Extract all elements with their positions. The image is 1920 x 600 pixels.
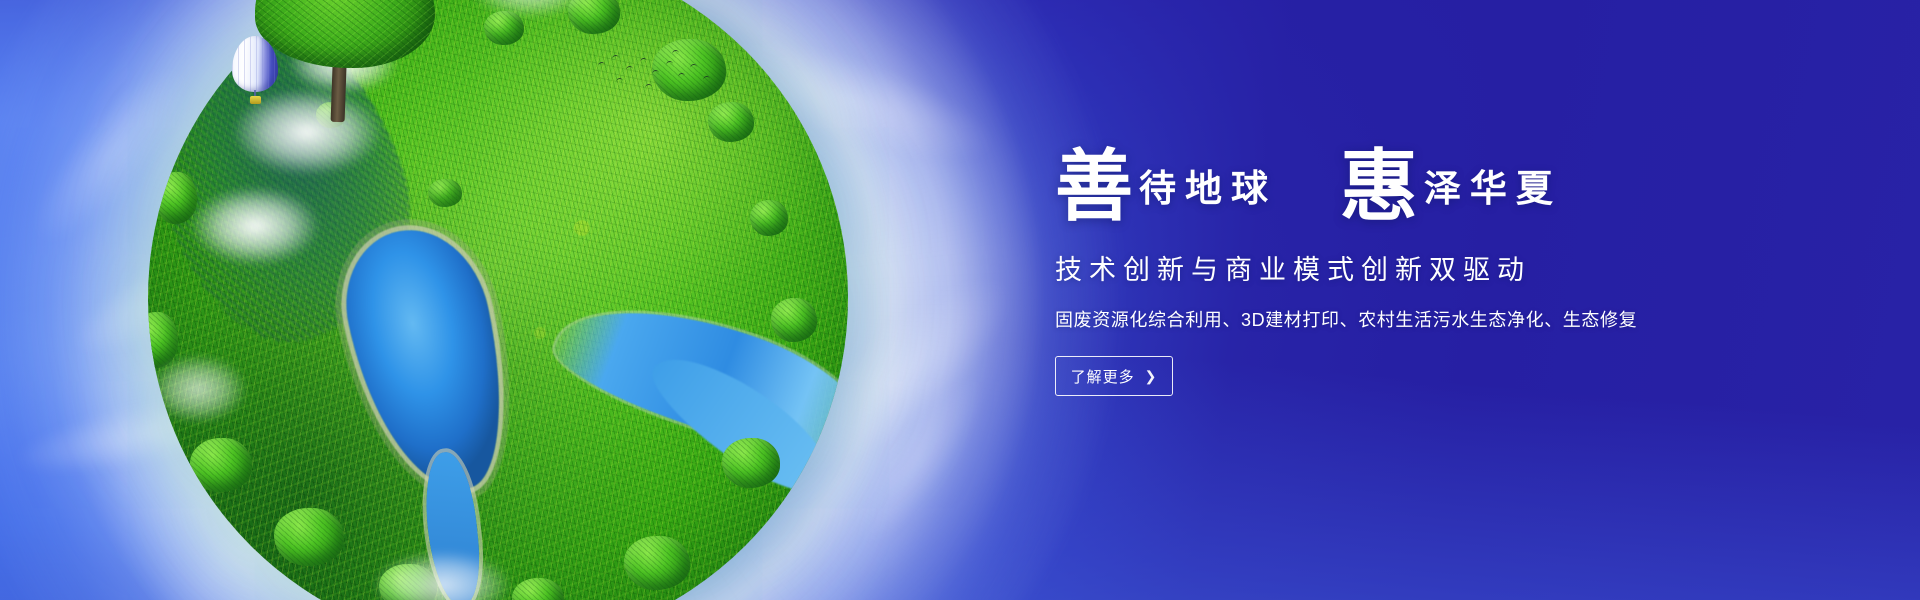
learn-more-button[interactable]: 了解更多 ❯ [1055,356,1173,396]
headline-text-zehuaxia: 泽华夏 [1424,169,1562,210]
headline-text-daidiqiu: 待地球 [1139,169,1277,210]
headline-phrase-1: 善待地球 [1055,140,1277,218]
hot-air-balloon-icon [232,36,278,108]
learn-more-label: 了解更多 [1071,366,1135,387]
headline-char-hui: 惠 [1340,143,1418,230]
hero-copy: 善待地球 惠泽华夏 技术创新与商业模式创新双驱动 固废资源化综合利用、3D建材打… [1055,140,1795,396]
hero-banner: 善待地球 惠泽华夏 技术创新与商业模式创新双驱动 固废资源化综合利用、3D建材打… [0,0,1920,600]
hero-description: 固废资源化综合利用、3D建材打印、农村生活污水生态净化、生态修复 [1055,306,1795,332]
headline-char-shan: 善 [1055,143,1133,230]
chevron-right-icon: ❯ [1145,369,1158,383]
hero-subtitle: 技术创新与商业模式创新双驱动 [1055,248,1795,287]
hero-headline: 善待地球 惠泽华夏 [1055,140,1795,232]
headline-phrase-2: 惠泽华夏 [1340,140,1562,218]
